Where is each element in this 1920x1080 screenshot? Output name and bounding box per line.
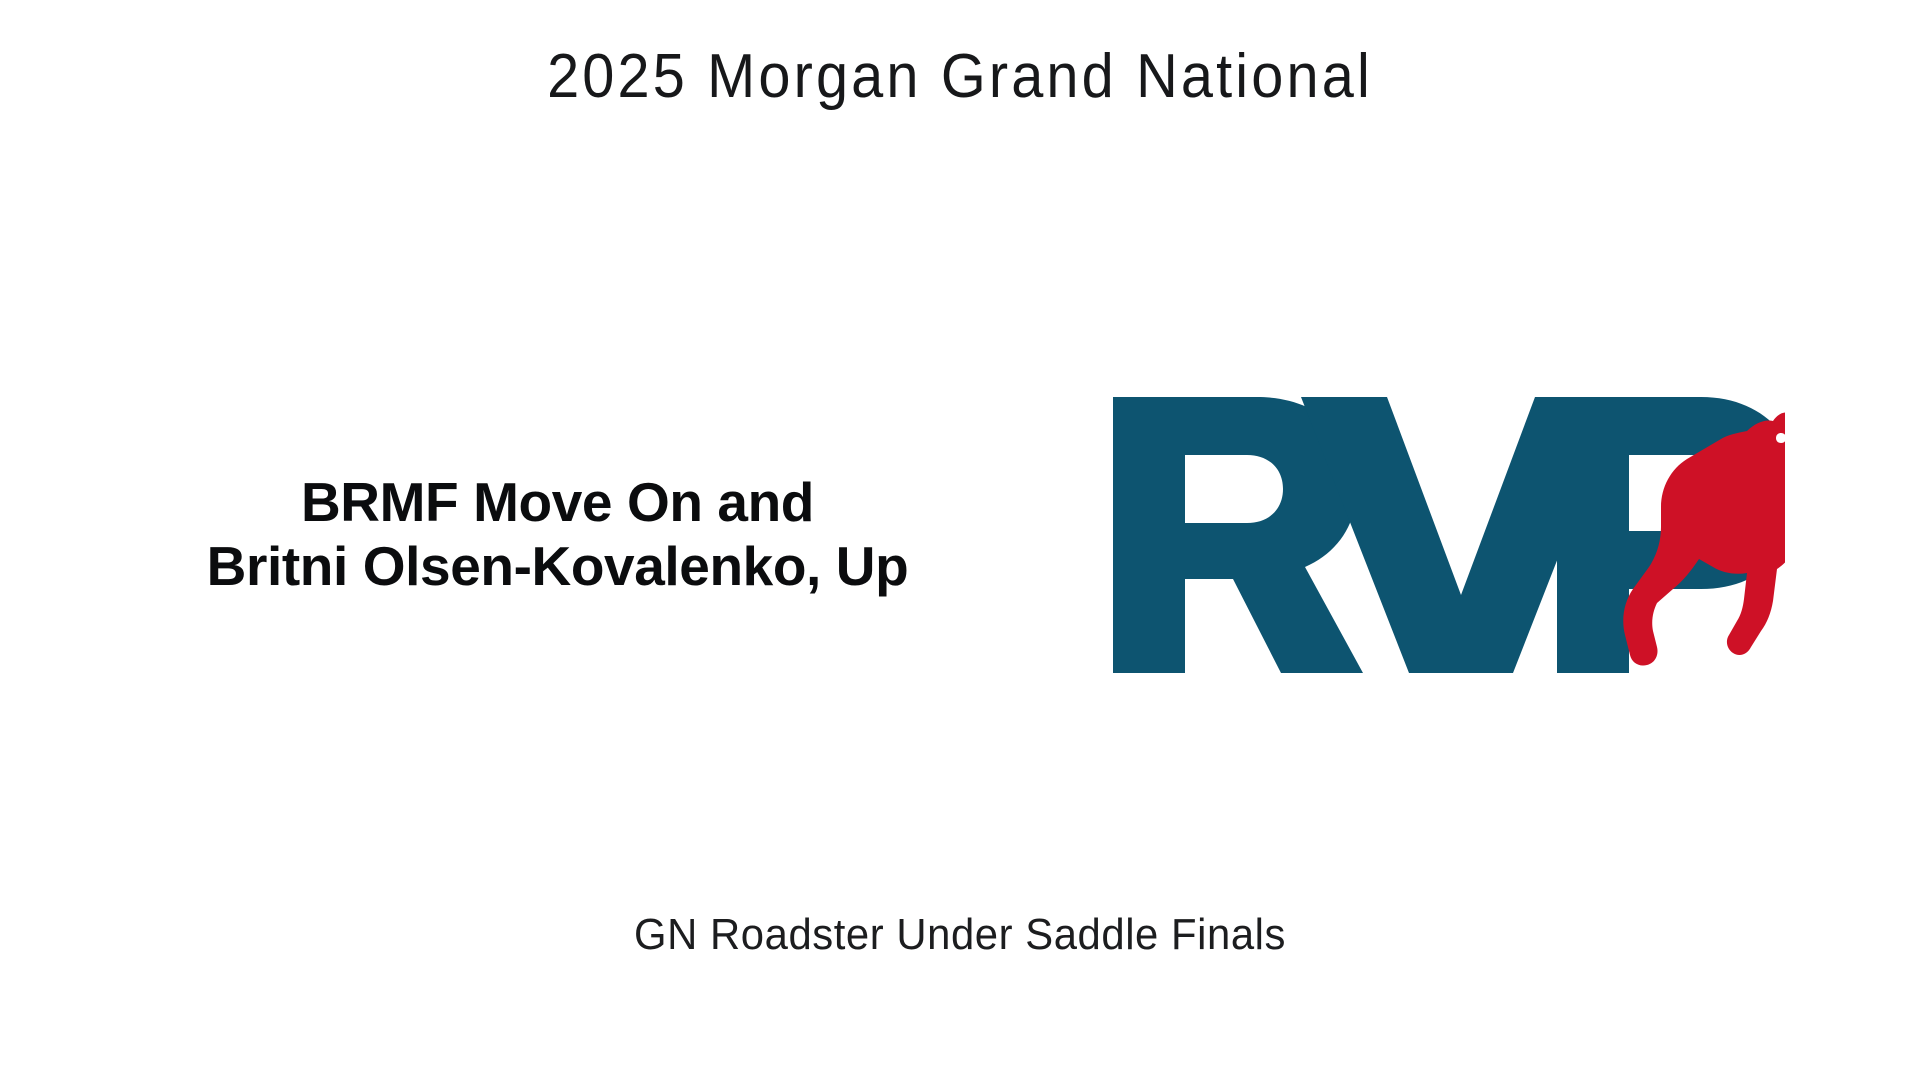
entry-name-block: BRMF Move On and Britni Olsen-Kovalenko,… (0, 471, 1105, 599)
entry-rider-line: Britni Olsen-Kovalenko, Up (10, 535, 1105, 599)
entry-and-logo-band: BRMF Move On and Britni Olsen-Kovalenko,… (0, 370, 1920, 700)
entry-horse-line: BRMF Move On and (10, 471, 1105, 535)
class-caption: GN Roadster Under Saddle Finals (48, 910, 1872, 961)
event-title: 2025 Morgan Grand National (67, 42, 1853, 111)
rvp-logo-block (1105, 385, 1805, 685)
rvp-logo-icon (1105, 389, 1785, 681)
title-card-slide: 2025 Morgan Grand National BRMF Move On … (0, 0, 1920, 1080)
